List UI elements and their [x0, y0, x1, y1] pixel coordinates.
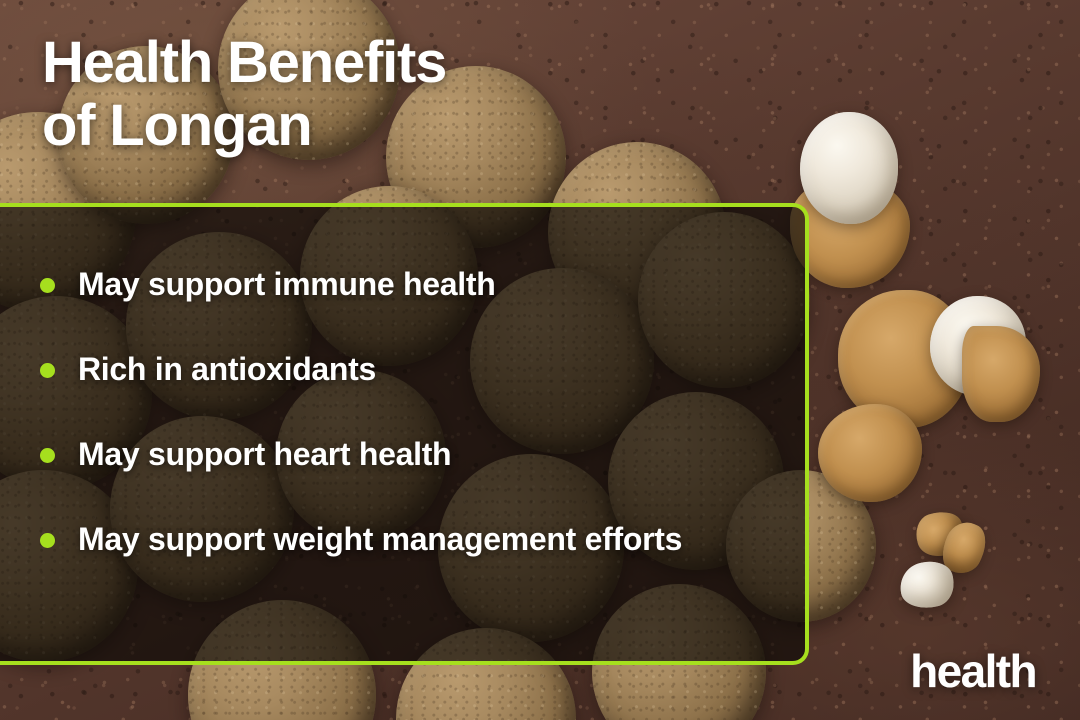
bullet-dot-icon: [40, 533, 55, 548]
page-title: Health Benefits of Longan: [42, 32, 662, 157]
bullet-dot-icon: [40, 363, 55, 378]
longan-flesh: [800, 112, 898, 224]
bullet-dot-icon: [40, 278, 55, 293]
benefit-label: May support immune health: [78, 266, 495, 302]
infographic-canvas: Health Benefits of Longan May support im…: [0, 0, 1080, 720]
bullet-dot-icon: [40, 448, 55, 463]
brand-logo: health: [910, 644, 1036, 698]
list-item: Rich in antioxidants: [36, 347, 736, 391]
benefit-label: May support weight management efforts: [78, 521, 682, 557]
list-item: May support immune health: [36, 262, 736, 306]
list-item: May support weight management efforts: [36, 517, 736, 561]
benefits-list: May support immune health Rich in antiox…: [36, 262, 736, 562]
list-item: May support heart health: [36, 432, 736, 476]
longan-husk: [818, 404, 922, 502]
benefit-label: Rich in antioxidants: [78, 351, 376, 387]
benefit-label: May support heart health: [78, 436, 451, 472]
